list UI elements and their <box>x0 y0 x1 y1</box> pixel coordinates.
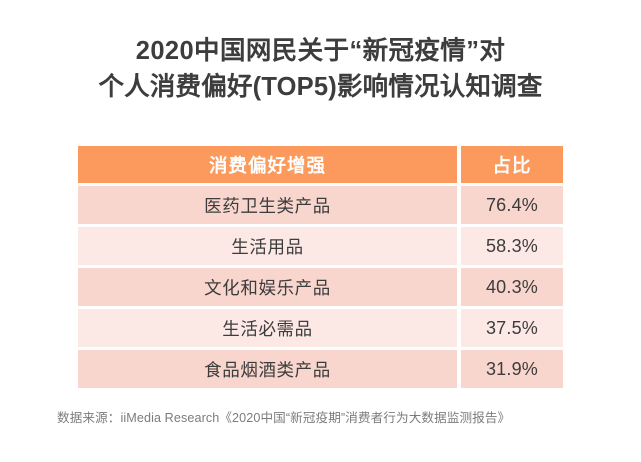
row-value: 40.3% <box>461 268 563 306</box>
row-value: 76.4% <box>461 186 563 224</box>
row-label: 文化和娱乐产品 <box>78 268 457 306</box>
infographic-page: 2020中国网民关于“新冠疫情”对 个人消费偏好(TOP5)影响情况认知调查 消… <box>0 0 641 462</box>
table-row: 文化和娱乐产品 40.3% <box>78 268 563 306</box>
page-title-line-1: 2020中国网民关于“新冠疫情”对 <box>0 33 641 69</box>
table-row: 食品烟酒类产品 31.9% <box>78 350 563 388</box>
page-title-line-2: 个人消费偏好(TOP5)影响情况认知调查 <box>0 69 641 105</box>
row-value: 31.9% <box>461 350 563 388</box>
row-value: 58.3% <box>461 227 563 265</box>
row-label: 生活用品 <box>78 227 457 265</box>
row-label: 医药卫生类产品 <box>78 186 457 224</box>
page-title: 2020中国网民关于“新冠疫情”对 个人消费偏好(TOP5)影响情况认知调查 <box>0 33 641 105</box>
table-row: 医药卫生类产品 76.4% <box>78 186 563 224</box>
data-table: 消费偏好增强 占比 医药卫生类产品 76.4% 生活用品 58.3% 文化和娱乐… <box>78 146 563 388</box>
table-header-row: 消费偏好增强 占比 <box>78 146 563 183</box>
row-label: 生活必需品 <box>78 309 457 347</box>
source-note: 数据来源：iiMedia Research《2020中国“新冠疫期”消费者行为大… <box>57 407 510 426</box>
table-row: 生活必需品 37.5% <box>78 309 563 347</box>
column-header-percentage: 占比 <box>461 146 563 183</box>
row-label: 食品烟酒类产品 <box>78 350 457 388</box>
row-value: 37.5% <box>461 309 563 347</box>
table-row: 生活用品 58.3% <box>78 227 563 265</box>
column-header-preference: 消费偏好增强 <box>78 146 457 183</box>
